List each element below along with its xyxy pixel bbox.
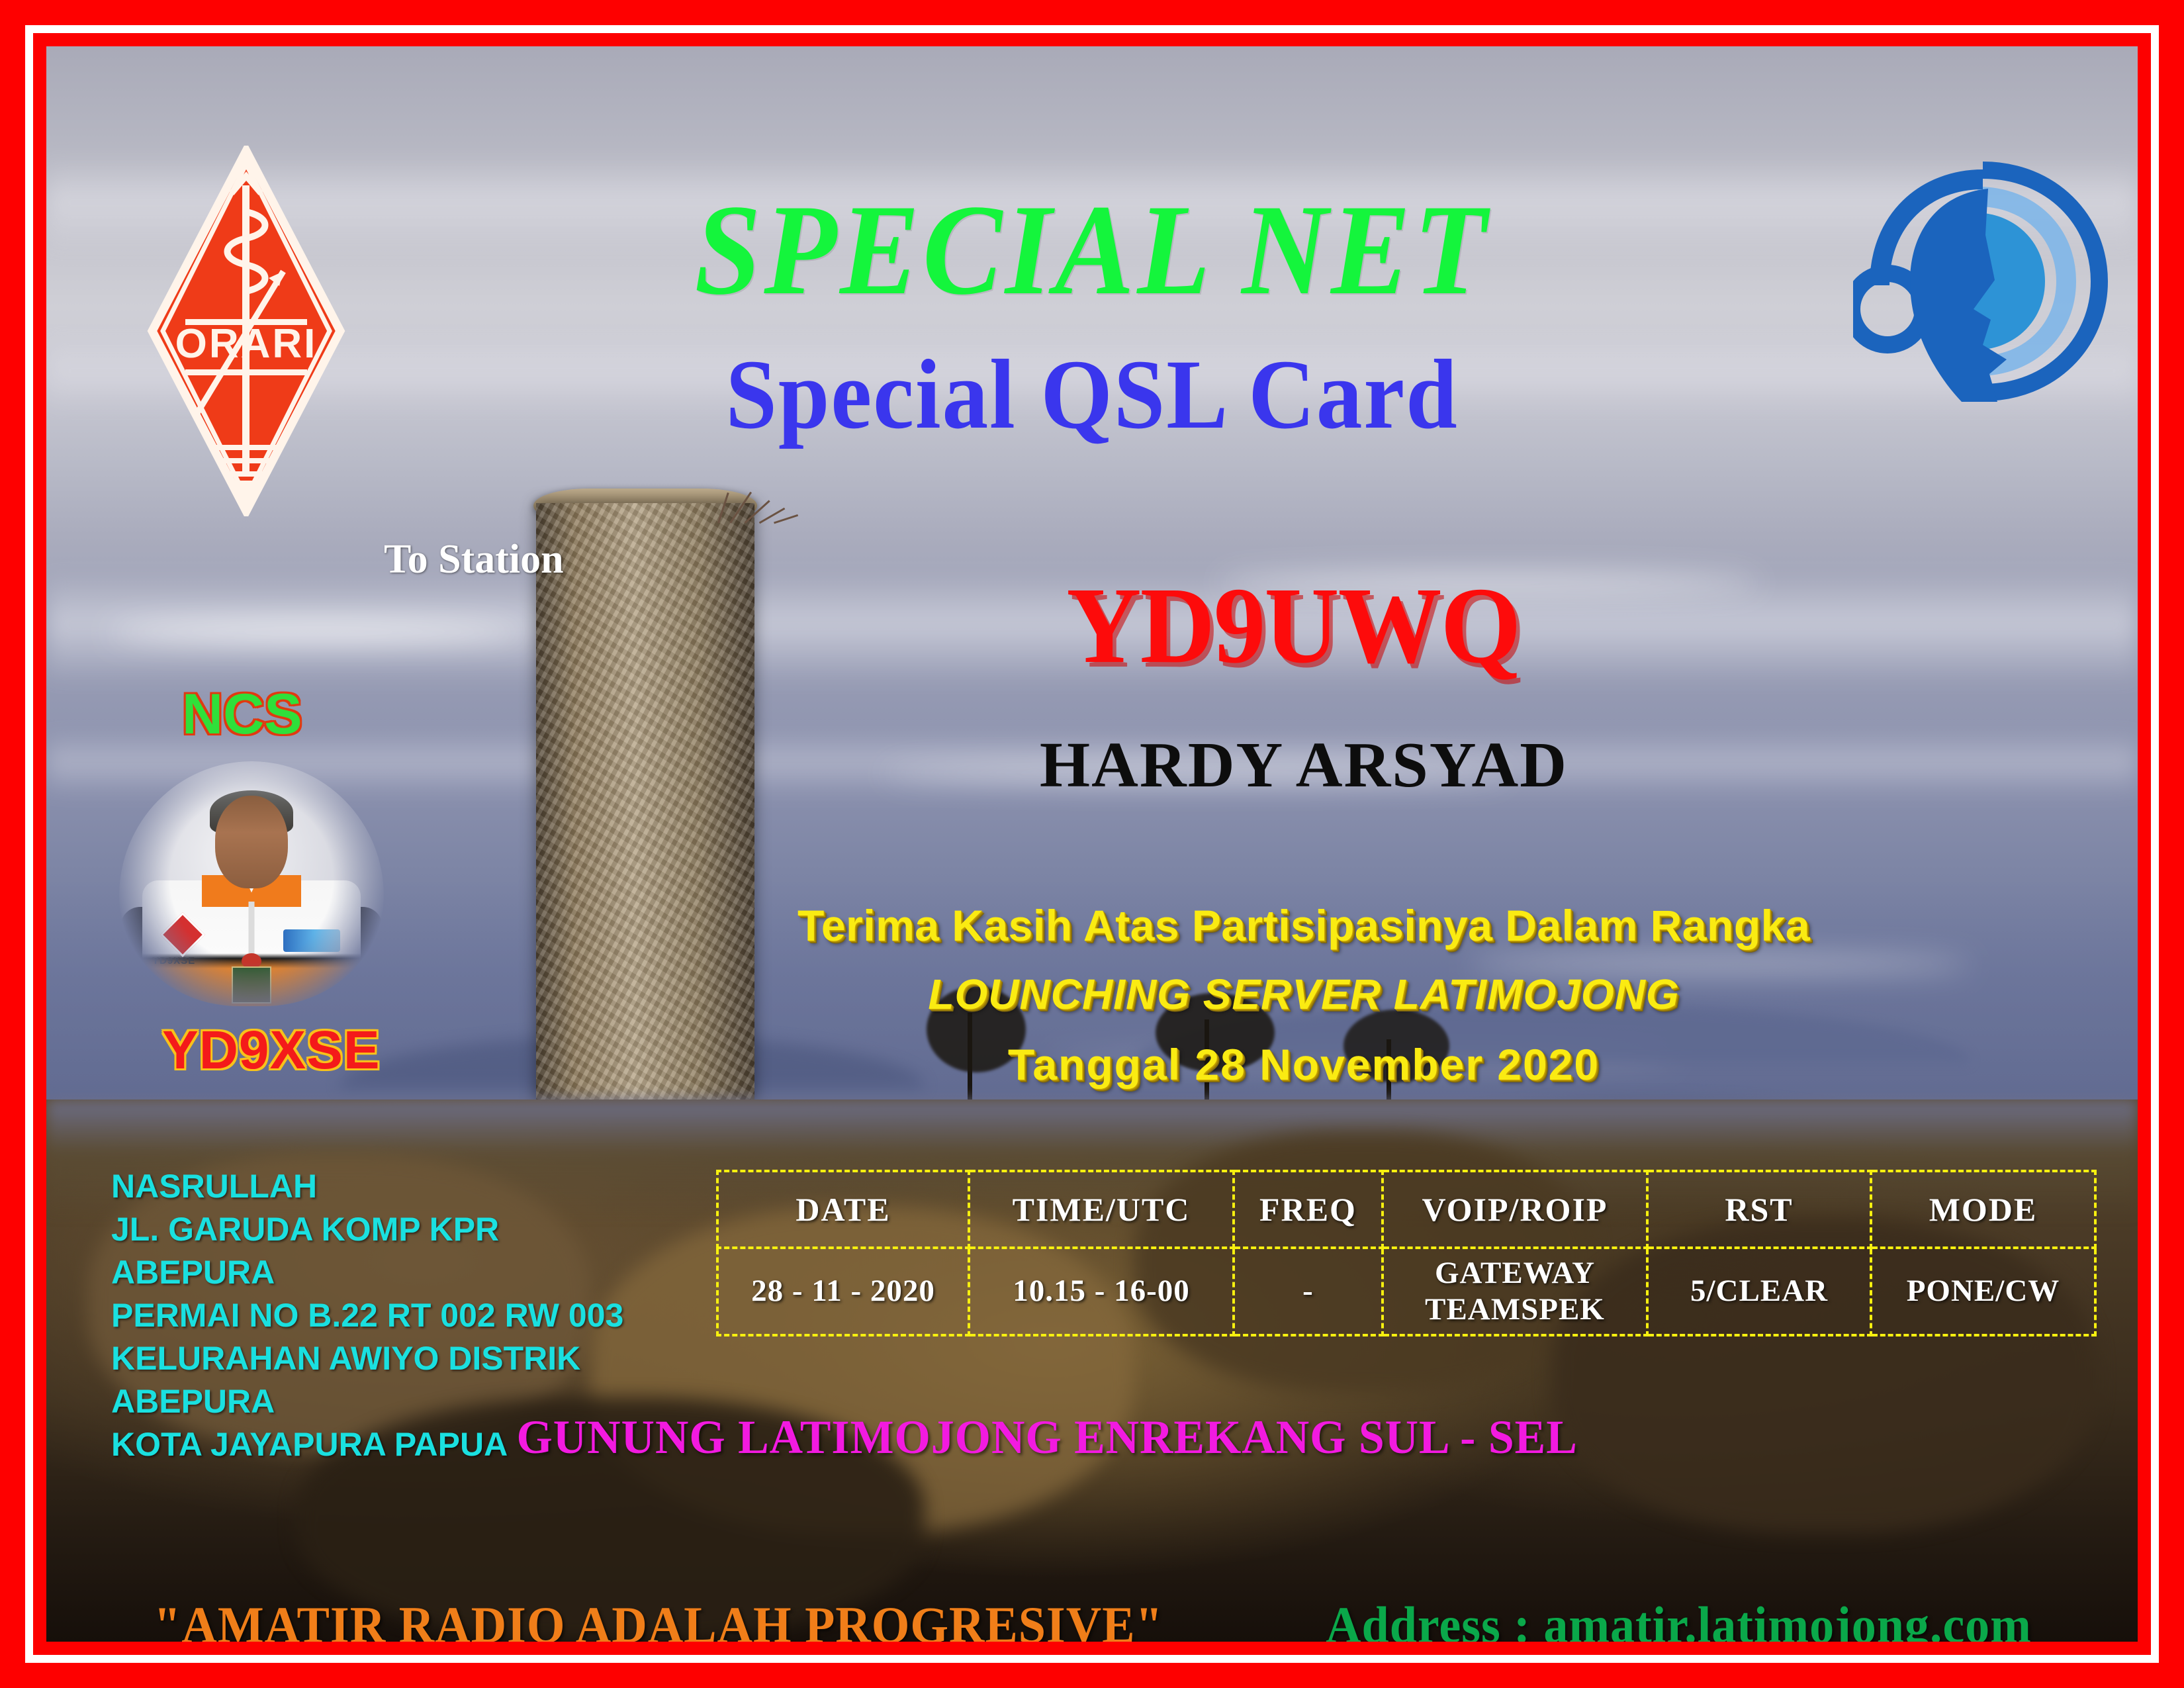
column-header-rst: RST (1647, 1171, 1871, 1248)
cell-freq: - (1234, 1248, 1383, 1335)
qso-log-table: DATE TIME/UTC FREQ VOIP/ROIP RST MODE 28… (716, 1170, 2097, 1336)
qsl-card: ORARI SPECIAL NET Special QSL Card To St… (0, 0, 2184, 1688)
cell-date: 28 - 11 - 2020 (717, 1248, 969, 1335)
footer-slogan: "AMATIR RADIO ADALAH PROGRESIVE" (154, 1595, 1163, 1642)
column-header-voip-roip: VOIP/ROIP (1383, 1171, 1647, 1248)
card-white-gap: ORARI SPECIAL NET Special QSL Card To St… (25, 25, 2159, 1663)
face (215, 796, 288, 888)
cell-voip-roip-line1: GATEWAY (1435, 1256, 1595, 1290)
cell-rst: 5/CLEAR (1647, 1248, 1871, 1335)
shirt-callsign-text: YD9XSE (152, 955, 195, 966)
station-callsign: YD9UWQ (300, 563, 2138, 688)
page-title: SPECIAL NET (130, 175, 2054, 324)
cell-mode: PONE/CW (1871, 1248, 2095, 1335)
column-header-freq: FREQ (1234, 1171, 1383, 1248)
operator-name: HARDY ARSYAD (258, 728, 2138, 802)
card-inner-red-border: ORARI SPECIAL NET Special QSL Card To St… (33, 33, 2151, 1655)
column-header-mode: MODE (1871, 1171, 2095, 1248)
address-line: ABEPURA (111, 1251, 623, 1294)
cell-voip-roip: GATEWAY TEAMSPEK (1383, 1248, 1647, 1335)
column-header-date: DATE (717, 1171, 969, 1248)
card-background-photo: ORARI SPECIAL NET Special QSL Card To St… (46, 46, 2138, 1642)
thanks-line: Terima Kasih Atas Partisipasinya Dalam R… (258, 900, 2138, 951)
footer-web-address: Address : amatir.latimojong.com (1326, 1595, 2032, 1642)
address-line: JL. GARUDA KOMP KPR (111, 1208, 623, 1251)
event-date-line: Tanggal 28 November 2020 (258, 1039, 2138, 1090)
page-subtitle: Special QSL Card (120, 338, 2065, 451)
table-row: 28 - 11 - 2020 10.15 - 16-00 - GATEWAY T… (717, 1248, 2095, 1335)
address-line: KELURAHAN AWIYO DISTRIK (111, 1337, 623, 1380)
column-header-time-utc: TIME/UTC (969, 1171, 1234, 1248)
event-line: LOUNCHING SERVER LATIMOJONG (258, 970, 2138, 1019)
table-header-row: DATE TIME/UTC FREQ VOIP/ROIP RST MODE (717, 1171, 2095, 1248)
venue-location: GUNUNG LATIMOJONG ENREKANG SUL - SEL (46, 1410, 2062, 1465)
address-line: NASRULLAH (111, 1165, 623, 1208)
grass-tuft (715, 483, 801, 523)
cell-time: 10.15 - 16-00 (969, 1248, 1234, 1335)
address-line: PERMAI NO B.22 RT 002 RW 003 (111, 1294, 623, 1337)
cell-voip-roip-line2: TEAMSPEK (1425, 1292, 1605, 1327)
